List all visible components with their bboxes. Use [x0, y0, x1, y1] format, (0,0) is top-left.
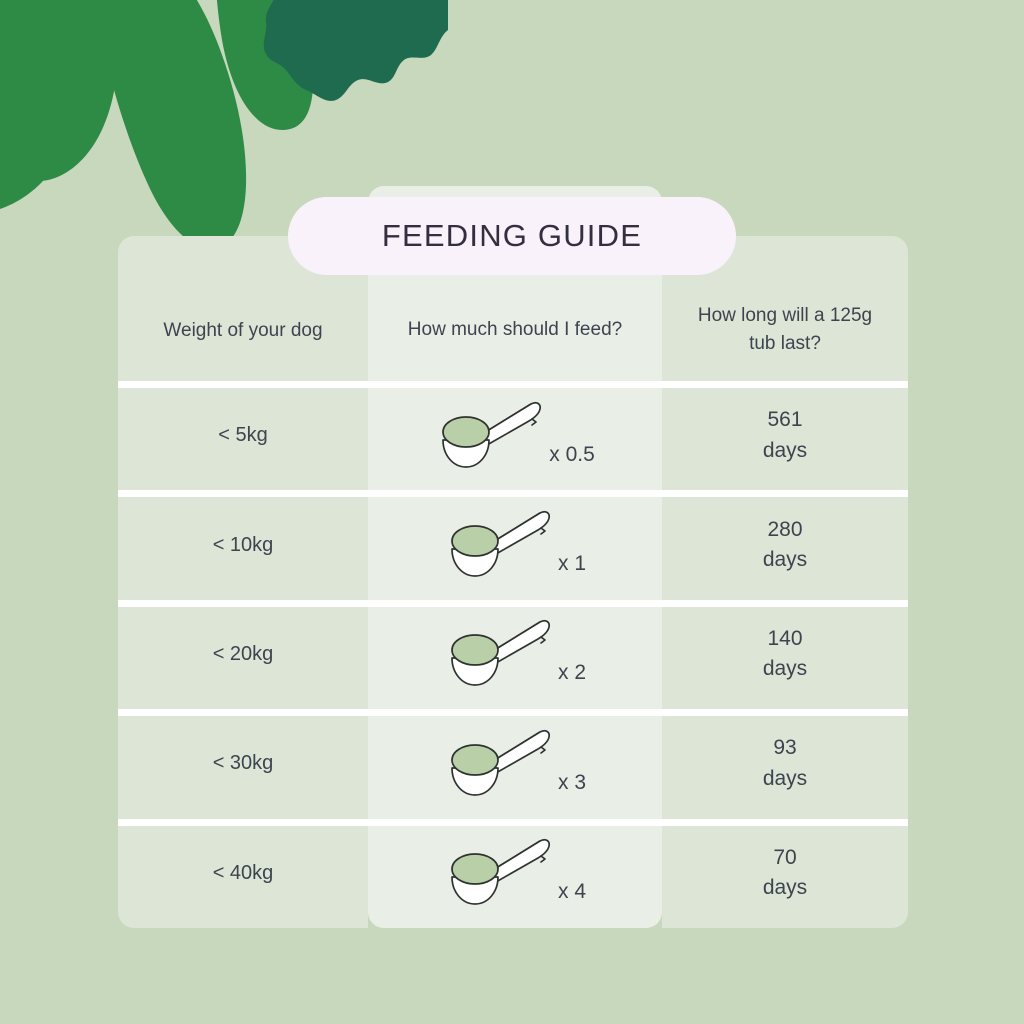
cell-duration: 140 days	[662, 600, 908, 709]
leaf-shape	[215, 0, 313, 130]
cell-duration: 561 days	[662, 381, 908, 490]
cell-weight: < 30kg	[118, 709, 368, 818]
cell-weight: < 10kg	[118, 490, 368, 599]
cell-weight: < 40kg	[118, 819, 368, 928]
duration-value: 93	[763, 733, 807, 763]
leaf-shape	[0, 0, 118, 181]
weight-value: < 5kg	[218, 424, 267, 447]
measuring-scoop-icon	[444, 834, 554, 912]
cell-weight: < 5kg	[118, 381, 368, 490]
page-title: FEEDING GUIDE	[382, 218, 642, 254]
cell-feed: x 2	[368, 600, 662, 709]
duration-unit: days	[763, 654, 807, 684]
cell-feed: x 1	[368, 490, 662, 599]
cell-feed: x 0.5	[368, 381, 662, 490]
cell-feed: x 4	[368, 819, 662, 928]
table-row: < 20kg	[118, 600, 908, 709]
cell-duration: 70 days	[662, 819, 908, 928]
duration-unit: days	[763, 545, 807, 575]
column-header-feed-label: How much should I feed?	[408, 316, 622, 344]
scoop-multiplier: x 0.5	[549, 443, 595, 475]
scoop-multiplier: x 3	[558, 771, 586, 803]
column-header-duration-label: How long will a 125g tub last?	[684, 302, 886, 357]
duration-value: 280	[763, 515, 807, 545]
duration-value: 140	[763, 624, 807, 654]
duration-unit: days	[763, 436, 807, 466]
weight-value: < 10kg	[213, 534, 274, 557]
scoop-multiplier: x 1	[558, 552, 586, 584]
cell-duration: 93 days	[662, 709, 908, 818]
measuring-scoop-icon	[444, 506, 554, 584]
duration-value: 70	[763, 843, 807, 873]
feeding-guide-title-pill: FEEDING GUIDE	[288, 197, 736, 275]
leaf-shape	[97, 0, 246, 249]
cell-feed: x 3	[368, 709, 662, 818]
scoop-multiplier: x 2	[558, 661, 586, 693]
measuring-scoop-icon	[444, 615, 554, 693]
duration-unit: days	[763, 764, 807, 794]
table-row: < 40kg	[118, 819, 908, 928]
feeding-guide-card: Weight of your dog How much should I fee…	[118, 236, 908, 928]
duration-value: 561	[763, 405, 807, 435]
weight-value: < 20kg	[213, 643, 274, 666]
duration-unit: days	[763, 873, 807, 903]
table-row: < 10kg	[118, 490, 908, 599]
measuring-scoop-icon	[444, 725, 554, 803]
feeding-guide-table: Weight of your dog How much should I fee…	[118, 236, 908, 928]
weight-value: < 40kg	[213, 862, 274, 885]
column-header-weight-label: Weight of your dog	[163, 317, 322, 345]
measuring-scoop-icon	[435, 397, 545, 475]
weight-value: < 30kg	[213, 752, 274, 775]
table-row: < 30kg	[118, 709, 908, 818]
cell-weight: < 20kg	[118, 600, 368, 709]
table-row: < 5kg	[118, 381, 908, 490]
cell-duration: 280 days	[662, 490, 908, 599]
scalloped-leaf-shape	[264, 0, 448, 101]
scoop-multiplier: x 4	[558, 880, 586, 912]
leaf-shape	[0, 0, 75, 214]
